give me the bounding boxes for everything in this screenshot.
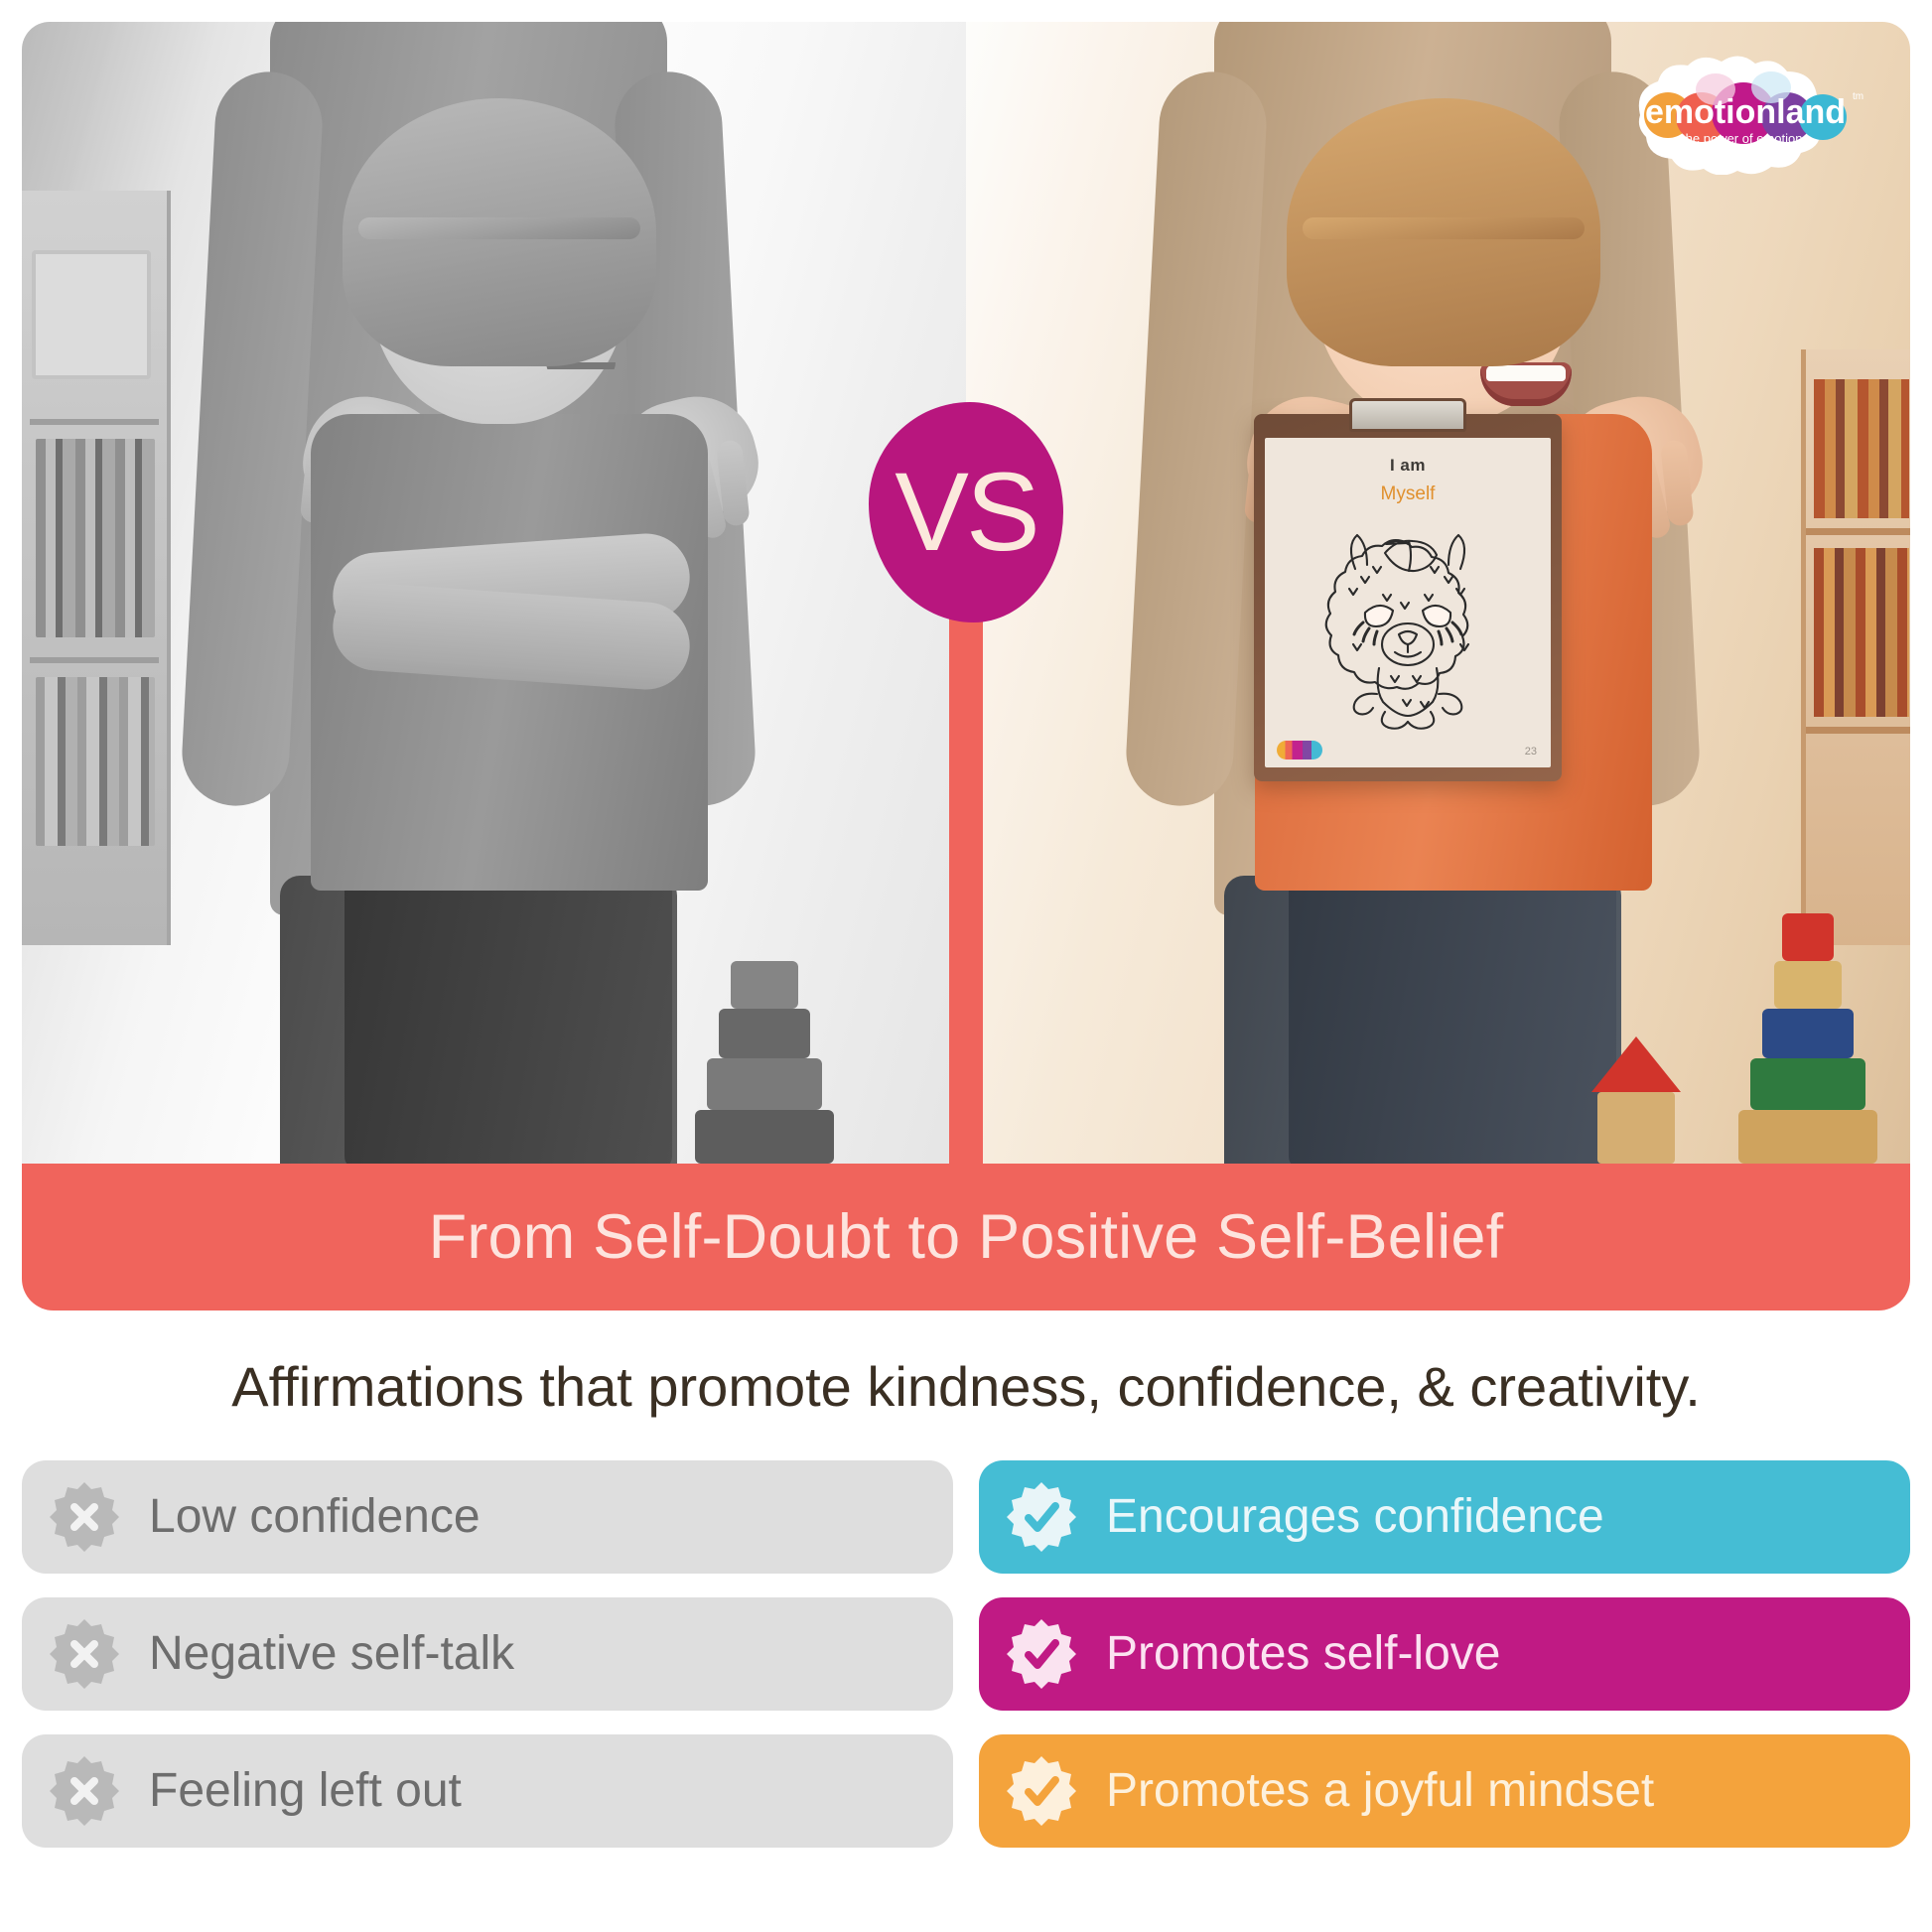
vs-label: VS <box>895 457 1036 568</box>
child-smile <box>1480 362 1572 406</box>
photo-divider <box>949 578 983 1166</box>
check-badge-icon <box>1005 1754 1078 1828</box>
feature-row: Low confidence Encourages confidence <box>22 1460 1910 1574</box>
child-pants <box>1289 871 1616 1164</box>
right-photo-positive-self-belief: I am Myself <box>966 22 1910 1164</box>
negative-pill-1[interactable]: Low confidence <box>22 1460 953 1574</box>
headline-title: From Self-Doubt to Positive Self-Belief <box>429 1201 1504 1273</box>
books-warm-row-2 <box>1814 548 1909 717</box>
bookshelf-warm <box>1801 349 1910 945</box>
child-pants <box>345 871 672 1164</box>
svg-text:the power of emotions: the power of emotions <box>1682 131 1809 146</box>
positive-pill-3[interactable]: Promotes a joyful mindset <box>979 1734 1910 1848</box>
promo-graphic: I am Myself <box>0 0 1932 1932</box>
worksheet-line-2: Myself <box>1265 483 1551 505</box>
books-row-2 <box>36 677 155 846</box>
emotionland-logo: emotionland tm the power of emotions <box>1622 56 1872 175</box>
worksheet-page-number: 23 <box>1525 746 1537 758</box>
negative-pill-label: Low confidence <box>149 1493 481 1541</box>
check-badge-icon <box>1005 1480 1078 1554</box>
feature-row: Feeling left out Promotes a joyful minds… <box>22 1734 1910 1848</box>
bookshelf-gray <box>22 191 171 945</box>
check-badge-icon <box>1005 1617 1078 1691</box>
negative-pill-3[interactable]: Feeling left out <box>22 1734 953 1848</box>
worksheet-line-1: I am <box>1265 456 1551 476</box>
before-after-comparison: I am Myself <box>22 22 1910 1164</box>
x-badge-icon <box>48 1617 121 1691</box>
feature-comparison-grid: Low confidence Encourages confidence <box>22 1460 1910 1848</box>
child-unhappy <box>275 116 752 1164</box>
x-badge-icon <box>48 1754 121 1828</box>
positive-pill-1[interactable]: Encourages confidence <box>979 1460 1910 1574</box>
toy-house <box>1591 1035 1681 1164</box>
books-row-1 <box>36 439 155 637</box>
shelf-box <box>32 250 151 379</box>
llama-illustration <box>1313 517 1502 731</box>
svg-text:emotionland: emotionland <box>1645 93 1846 131</box>
svg-text:tm: tm <box>1853 91 1863 102</box>
child-hair <box>343 98 656 366</box>
negative-pill-2[interactable]: Negative self-talk <box>22 1597 953 1711</box>
books-warm-row-1 <box>1814 379 1909 518</box>
subtitle: Affirmations that promote kindness, conf… <box>22 1354 1910 1419</box>
positive-pill-label: Encourages confidence <box>1106 1493 1604 1541</box>
positive-pill-label: Promotes self-love <box>1106 1630 1500 1678</box>
x-badge-icon <box>48 1480 121 1554</box>
feature-row: Negative self-talk Promotes self-love <box>22 1597 1910 1711</box>
negative-pill-label: Negative self-talk <box>149 1630 514 1678</box>
left-photo-self-doubt <box>22 22 966 1164</box>
positive-pill-2[interactable]: Promotes self-love <box>979 1597 1910 1711</box>
worksheet-paper: I am Myself <box>1265 438 1551 767</box>
clipboard: I am Myself <box>1254 414 1562 781</box>
child-hair <box>1287 98 1600 366</box>
clipboard-clip <box>1349 398 1466 432</box>
positive-pill-label: Promotes a joyful mindset <box>1106 1767 1654 1815</box>
worksheet-mini-logo-icon <box>1277 741 1322 759</box>
negative-pill-label: Feeling left out <box>149 1767 462 1815</box>
headline-banner: From Self-Doubt to Positive Self-Belief <box>22 1164 1910 1311</box>
